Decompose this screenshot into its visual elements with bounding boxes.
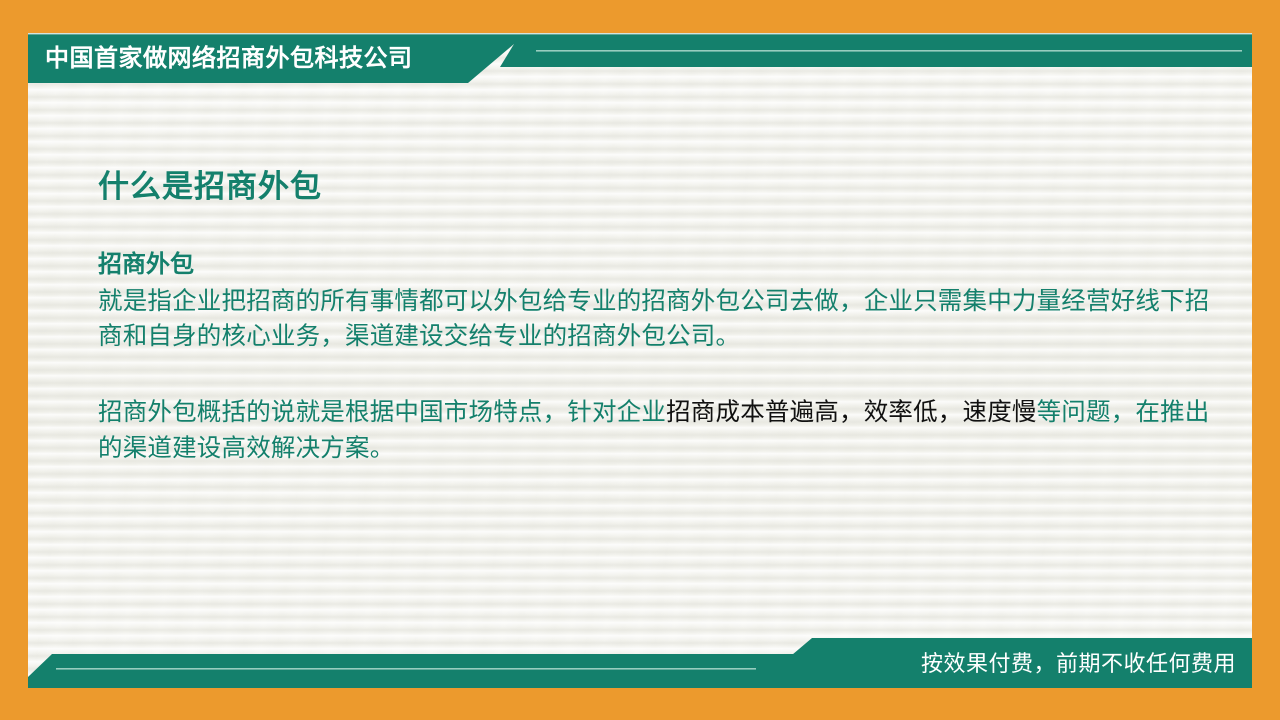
slide-root: 中国首家做网络招商外包科技公司 什么是招商外包 招商外包 就是指企业把招商的所有… — [0, 0, 1280, 720]
header-title: 中国首家做网络招商外包科技公司 — [45, 42, 413, 76]
lead-heading: 招商外包 — [98, 249, 1223, 281]
paragraph-summary: 招商外包概括的说就是根据中国市场特点，针对企业招商成本普遍高，效率低，速度慢等问… — [98, 395, 1223, 467]
main-content: 什么是招商外包 招商外包 就是指企业把招商的所有事情都可以外包给专业的招商外包公… — [98, 168, 1223, 467]
paragraph-definition: 就是指企业把招商的所有事情都可以外包给专业的招商外包公司去做，企业只需集中力量经… — [98, 284, 1223, 356]
paragraph-summary-highlight: 招商成本普遍高，效率低，速度慢 — [666, 399, 1037, 426]
paragraph-summary-part1: 招商外包概括的说就是根据中国市场特点，针对企业 — [98, 399, 666, 426]
page-title: 什么是招商外包 — [98, 168, 1223, 205]
footer-text: 按效果付费，前期不收任何费用 — [921, 648, 1236, 680]
